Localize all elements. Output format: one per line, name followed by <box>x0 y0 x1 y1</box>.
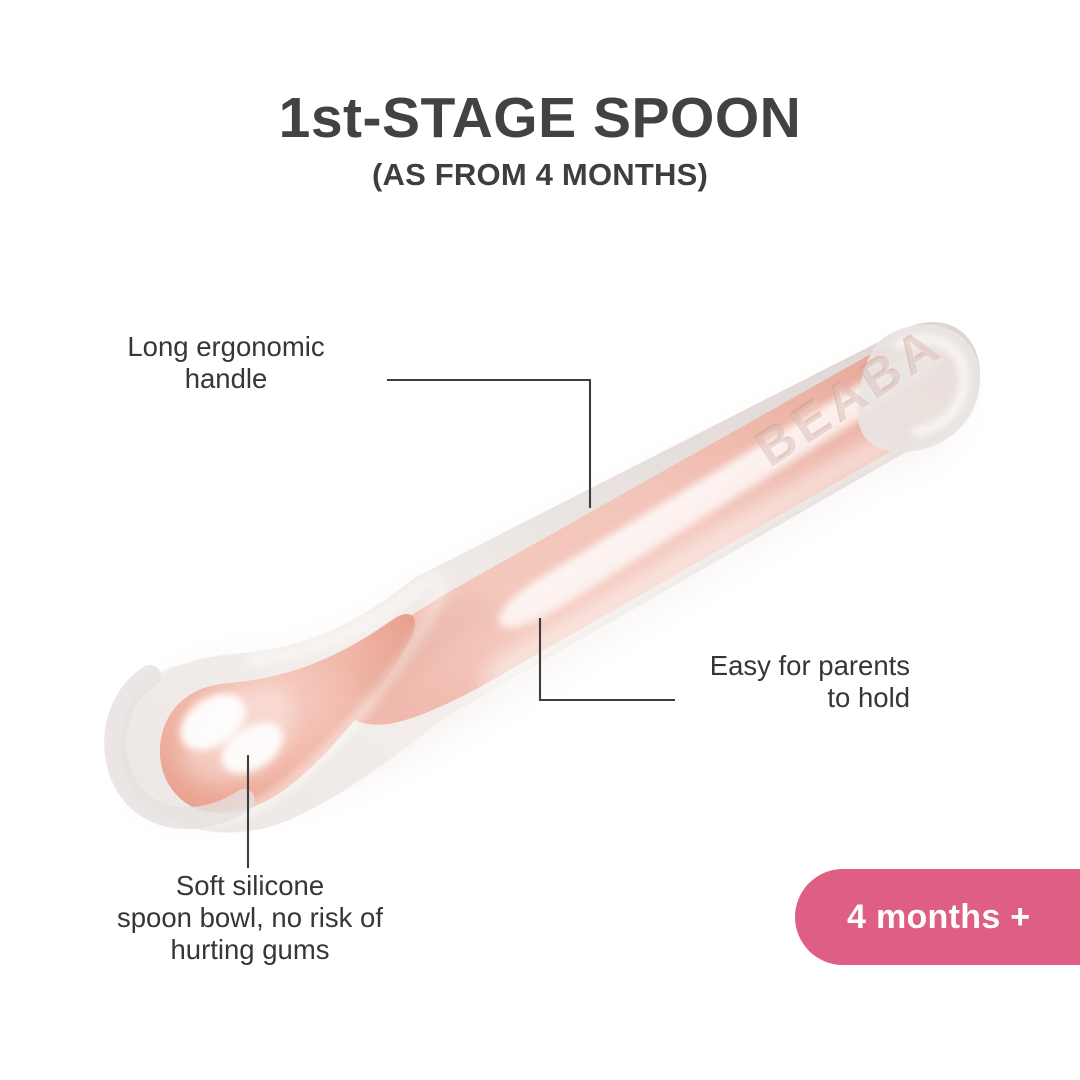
callout-label-soft-silicone-spoon-bowl: Soft silicone spoon bowl, no risk of hur… <box>60 870 440 966</box>
age-badge: 4 months + <box>795 869 1080 965</box>
infographic-canvas: BEABA BEABA 1st-STAGE SPOON (AS FROM 4 M… <box>0 0 1080 1080</box>
callout-label-long-ergonomic-handle: Long ergonomic handle <box>0 331 452 395</box>
age-badge-label: 4 months + <box>847 898 1030 937</box>
callout-label-easy-for-parents-to-hold: Easy for parents to hold <box>610 650 910 714</box>
leader-line-handle <box>387 380 590 508</box>
